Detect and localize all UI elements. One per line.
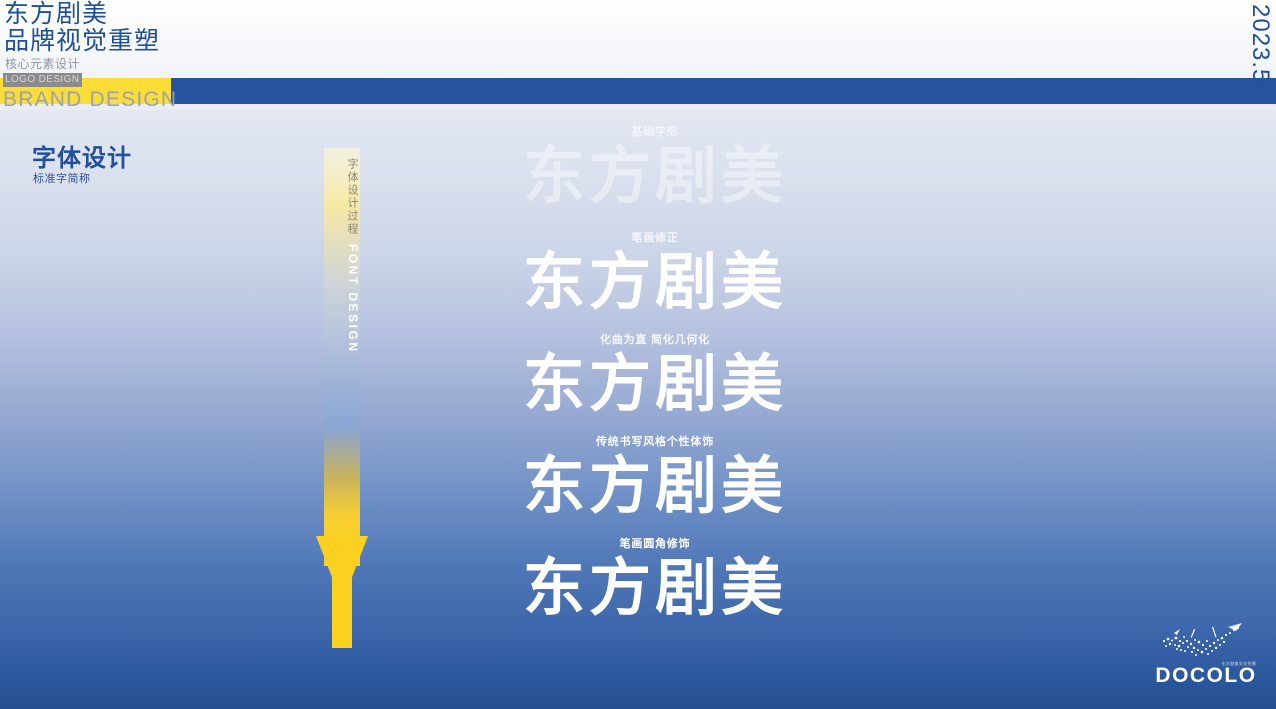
arrow-label-en: FONT DESIGN (324, 244, 360, 354)
stage-wordmark: 东方剧美 (420, 551, 890, 627)
stage-label: 笔画修正 (420, 231, 890, 245)
stage-item: 传统书写风格个性体饰 东方剧美 (420, 435, 890, 525)
slide-header: 东方剧美 品牌视觉重塑 核心元素设计 (0, 0, 1276, 110)
brand-design-wordmark: BRAND DESIGN (3, 88, 177, 112)
stage-wordmark: 东方剧美 (420, 449, 890, 525)
stage-label: 笔画圆角修饰 (420, 537, 890, 551)
header-title: 东方剧美 品牌视觉重塑 (4, 0, 160, 54)
stage-wordmark: 东方剧美 (420, 139, 890, 215)
header-title-line2: 品牌视觉重塑 (4, 27, 160, 54)
header-accent-bar-blue (171, 78, 1276, 104)
section-subtitle: 标准字简称 (33, 170, 91, 186)
header-title-line1: 东方剧美 (4, 0, 160, 27)
stage-label: 传统书写风格个性体饰 (420, 435, 890, 449)
section-title: 字体设计 (32, 138, 132, 173)
brand-logo: 东方剧美文化传播 DOCOLO (1150, 621, 1262, 687)
header-subtitle: 核心元素设计 (5, 57, 80, 71)
stage-wordmark: 东方剧美 (420, 347, 890, 423)
font-design-stages: 基础字形 东方剧美 笔画修正 东方剧美 化曲为直 简化几何化 东方剧美 传统书写… (420, 125, 890, 627)
stage-label: 基础字形 (420, 125, 890, 139)
process-arrow: 字体设计过程 FONT DESIGN (324, 148, 360, 608)
stage-label: 化曲为直 简化几何化 (420, 333, 890, 347)
brand-logo-name: DOCOLO (1150, 665, 1262, 687)
logo-design-tag: LOGO DESIGN (3, 73, 82, 87)
stage-item: 基础字形 东方剧美 (420, 125, 890, 215)
arrow-label-cn: 字体设计过程 (324, 158, 360, 236)
stage-item: 化曲为直 简化几何化 东方剧美 (420, 333, 890, 423)
stage-item: 笔画修正 东方剧美 (420, 231, 890, 321)
slide-date: 2023.5 (1246, 4, 1274, 83)
stage-item: 笔画圆角修饰 东方剧美 (420, 537, 890, 627)
stage-wordmark: 东方剧美 (420, 245, 890, 321)
arrow-head-icon (316, 536, 368, 603)
presentation-slide: 东方剧美 品牌视觉重塑 核心元素设计 LOGO DESIGN BRAND DES… (0, 0, 1276, 709)
